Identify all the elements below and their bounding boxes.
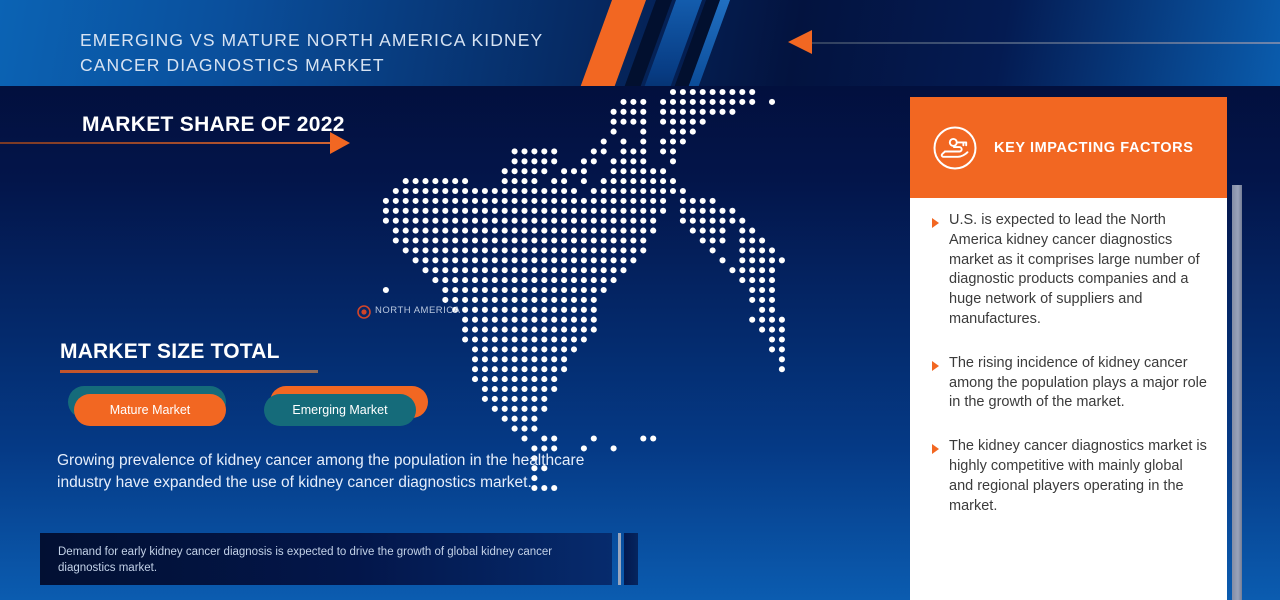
bullet-triangle-icon: [932, 361, 939, 371]
infographic-canvas: EMERGING VS MATURE NORTH AMERICA KIDNEY …: [0, 0, 1280, 600]
footer-divider: [618, 533, 621, 585]
left-arrow-icon: [788, 30, 812, 54]
key-impacting-factors-panel: KEY IMPACTING FACTORS U.S. is expected t…: [910, 97, 1227, 600]
panel-header: KEY IMPACTING FACTORS: [910, 97, 1227, 198]
market-size-underline: [60, 370, 318, 373]
legend-pill-emerging-market[interactable]: Emerging Market: [264, 394, 416, 426]
legend-pill-1-label: Mature Market: [110, 403, 191, 417]
footer-tail: [624, 533, 638, 585]
footer-text: Demand for early kidney cancer diagnosis…: [58, 545, 598, 576]
page-title: EMERGING VS MATURE NORTH AMERICA KIDNEY …: [80, 28, 600, 78]
bullet-triangle-icon: [932, 218, 939, 228]
footer-callout: Demand for early kidney cancer diagnosis…: [40, 533, 638, 585]
market-legend: Mature Market Emerging Market: [68, 386, 468, 436]
market-size-label: MARKET SIZE TOTAL: [60, 340, 280, 364]
header-arrow-line: [812, 42, 1280, 44]
bullet-text: U.S. is expected to lead the North Ameri…: [949, 211, 1207, 330]
bullet-text: The rising incidence of kidney cancer am…: [949, 354, 1207, 413]
bullet-text: The kidney cancer diagnostics market is …: [949, 437, 1207, 516]
legend-pill-mature-market[interactable]: Mature Market: [74, 394, 226, 426]
target-marker-icon: [357, 305, 371, 319]
list-item: The rising incidence of kidney cancer am…: [932, 354, 1207, 413]
hand-holding-key-icon: [932, 125, 978, 171]
panel-bullet-list: U.S. is expected to lead the North Ameri…: [910, 211, 1227, 540]
market-share-line: [0, 142, 330, 144]
list-item: The kidney cancer diagnostics market is …: [932, 437, 1207, 516]
market-size-description: Growing prevalence of kidney cancer amon…: [57, 450, 607, 493]
map-region-label: NORTH AMERICA: [375, 305, 465, 317]
market-share-label: MARKET SHARE OF 2022: [82, 113, 345, 137]
panel-title: KEY IMPACTING FACTORS: [994, 140, 1194, 156]
north-america-dot-map: [370, 88, 800, 498]
legend-pill-2-label: Emerging Market: [292, 403, 387, 417]
panel-shadow: [1232, 185, 1242, 600]
bullet-triangle-icon: [932, 444, 939, 454]
list-item: U.S. is expected to lead the North Ameri…: [932, 211, 1207, 330]
